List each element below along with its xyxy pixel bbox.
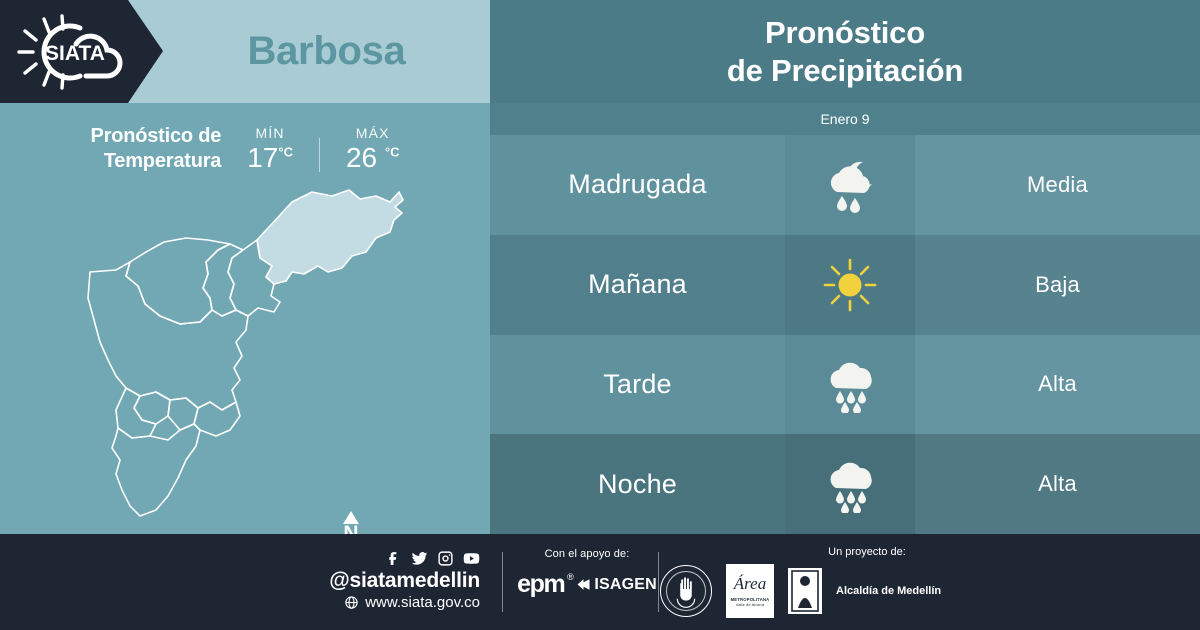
project-logos: Área METROPOLITANA Valle de Aburrá Alcal… — [660, 564, 1080, 618]
social-block: @siatamedellin www.siata.gov.co — [240, 550, 480, 611]
temperature-max-unit: °C — [385, 144, 400, 159]
temperature-title-line2: Temperatura — [90, 149, 221, 174]
youtube-icon[interactable] — [463, 550, 480, 567]
temperature-max-value: 26 — [346, 142, 377, 173]
forecast-period-label: Noche — [598, 469, 677, 500]
forecast-date: Enero 9 — [820, 111, 869, 127]
isagen-label: ISAGEN — [594, 576, 657, 594]
sun-icon — [819, 256, 881, 314]
udea-seal-icon — [660, 565, 712, 617]
epm-superscript: ® — [567, 572, 572, 582]
sun-cloud-icon: SIATA — [14, 14, 134, 90]
temperature-max-value-wrap: 26 °C — [346, 142, 400, 174]
forecast-icon-cell — [785, 135, 915, 235]
forecast-probability-cell: Media — [915, 135, 1200, 235]
forecast-period-label: Madrugada — [568, 169, 706, 200]
isagen-mark-icon — [576, 577, 591, 592]
footer-divider-2 — [658, 552, 659, 612]
siata-logo-text: SIATA — [45, 42, 105, 65]
forecast-probability-label: Alta — [1038, 471, 1077, 497]
forecast-probability-cell: Baja — [915, 235, 1200, 335]
project-caption: Un proyecto de: — [752, 546, 982, 558]
support-caption: Con el apoyo de: — [512, 548, 662, 560]
alcaldia-mark-icon — [788, 568, 822, 614]
website-url[interactable]: www.siata.gov.co — [365, 594, 480, 611]
footer-divider-1 — [502, 552, 503, 612]
website-line[interactable]: www.siata.gov.co — [240, 594, 480, 611]
temperature-summary: Pronóstico de Temperatura MÍN 17°C MÁX 2… — [0, 118, 490, 180]
forecast-period-cell: Noche — [490, 434, 785, 534]
footer: @siatamedellin www.siata.gov.co Con el a… — [0, 534, 1200, 630]
siata-logo-badge: SIATA — [0, 0, 163, 103]
forecast-probability-label: Baja — [1035, 272, 1080, 298]
forecast-icon-cell — [785, 235, 915, 335]
globe-icon — [344, 595, 359, 610]
precipitation-title-line1: Pronóstico — [727, 14, 963, 52]
right-panel: Pronóstico de Precipitación Enero 9 Madr… — [490, 0, 1200, 534]
valley-map: N — [60, 180, 440, 530]
left-panel: SIATA Barbosa Pronóstico de Temperatura … — [0, 0, 490, 534]
social-icons — [240, 550, 480, 567]
alcaldia-label: Alcaldía de Medellín — [836, 585, 941, 597]
temperature-title-line1: Pronóstico de — [90, 124, 221, 149]
social-handle[interactable]: @siatamedellin — [240, 569, 480, 593]
support-logos: epm® ISAGEN — [512, 570, 662, 599]
area-metropolitana-logo: Área METROPOLITANA Valle de Aburrá — [726, 564, 774, 618]
heavy-rain-icon — [819, 355, 881, 413]
forecast-probability-cell: Alta — [915, 434, 1200, 534]
forecast-icon-cell — [785, 335, 915, 435]
map-region-medellin — [88, 262, 248, 410]
night-rain-icon — [819, 156, 881, 214]
forecast-row: Tarde Alta — [490, 335, 1200, 435]
map-region-copacabana — [203, 244, 243, 316]
map-region-caldas — [112, 424, 200, 516]
map-region-sabaneta — [168, 398, 198, 430]
forecast-period-cell: Tarde — [490, 335, 785, 435]
forecast-period-cell: Madrugada — [490, 135, 785, 235]
precipitation-title-line2: de Precipitación — [727, 52, 963, 90]
udea-hand-icon — [661, 566, 711, 616]
forecast-probability-label: Alta — [1038, 371, 1077, 397]
infographic-root: SIATA Barbosa Pronóstico de Temperatura … — [0, 0, 1200, 630]
facebook-icon[interactable] — [385, 550, 402, 567]
left-header: SIATA Barbosa — [0, 0, 490, 103]
city-name: Barbosa — [163, 0, 490, 103]
precipitation-header: Pronóstico de Precipitación — [490, 0, 1200, 103]
temperature-min-label: MÍN — [247, 125, 293, 141]
project-block: Un proyecto de: Área METROPOLITANA Valle… — [660, 546, 1080, 618]
forecast-date-band: Enero 9 — [490, 103, 1200, 135]
heavy-rain-icon — [819, 455, 881, 513]
temperature-min-unit: °C — [278, 144, 293, 159]
forecast-row: Madrugada Media — [490, 135, 1200, 235]
epm-label: epm — [517, 570, 564, 598]
forecast-probability-label: Media — [1027, 172, 1088, 198]
temperature-title: Pronóstico de Temperatura — [90, 124, 221, 174]
temperature-max: MÁX 26 °C — [346, 125, 400, 174]
instagram-icon[interactable] — [437, 550, 454, 567]
forecast-icon-cell — [785, 434, 915, 534]
forecast-period-label: Mañana — [588, 269, 687, 300]
forecast-row: Noche Alta — [490, 434, 1200, 534]
amva-script: Área — [734, 575, 766, 592]
temperature-divider — [319, 138, 320, 172]
support-block: Con el apoyo de: epm® ISAGEN — [512, 548, 662, 599]
forecast-period-cell: Mañana — [490, 235, 785, 335]
forecast-period-label: Tarde — [603, 369, 672, 400]
forecast-rows: Madrugada Media Mañana — [490, 135, 1200, 534]
precipitation-title: Pronóstico de Precipitación — [727, 14, 963, 90]
isagen-logo: ISAGEN — [576, 576, 657, 594]
temperature-max-label: MÁX — [346, 125, 400, 141]
forecast-probability-cell: Alta — [915, 335, 1200, 435]
epm-logo: epm® — [517, 570, 564, 599]
temperature-min-value: 17 — [247, 142, 278, 173]
amva-sub2: Valle de Aburrá — [736, 602, 765, 607]
temperature-min: MÍN 17°C — [247, 125, 293, 174]
map-region-envigado — [194, 402, 240, 436]
alcaldia-glyph-icon — [788, 568, 822, 614]
forecast-row: Mañana — [490, 235, 1200, 335]
twitter-icon[interactable] — [411, 550, 428, 567]
map-region-barbosa — [257, 190, 403, 284]
temperature-min-value-wrap: 17°C — [247, 142, 293, 174]
map-svg — [60, 180, 440, 530]
